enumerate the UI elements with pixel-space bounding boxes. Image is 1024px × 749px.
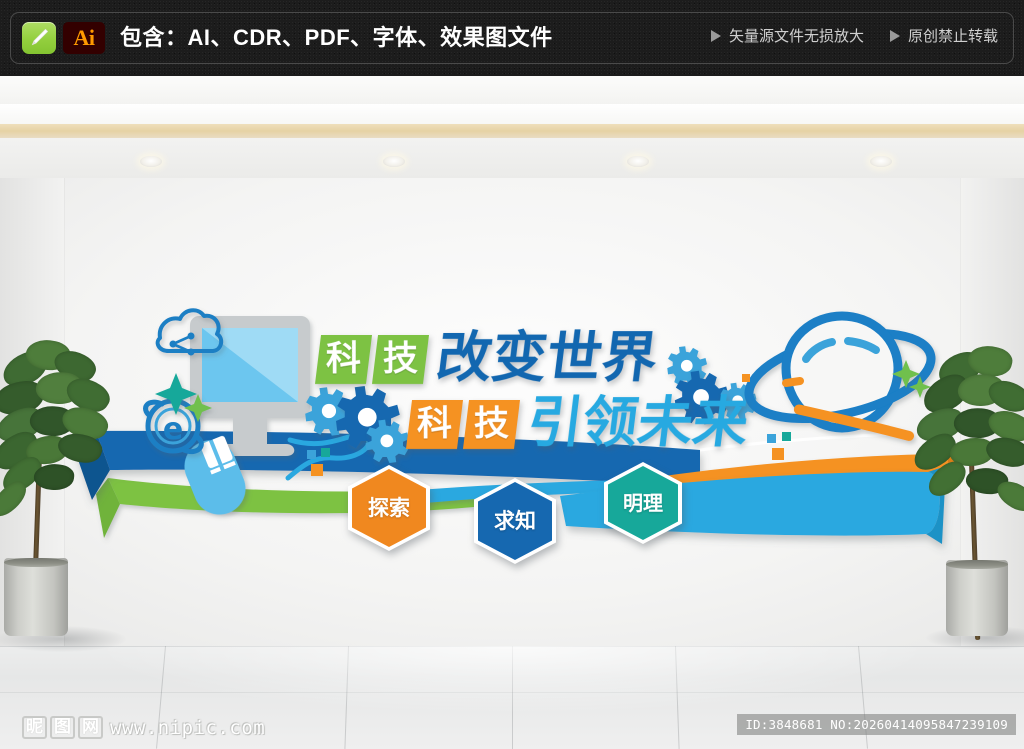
- banner-feature-label: 原创禁止转载: [908, 25, 998, 46]
- site-url: www.nipic.com: [110, 717, 265, 739]
- headline-line2-text: 引领未来: [525, 395, 752, 450]
- asset-id-badge: ID:3848681 NO:20260414095847239109: [737, 714, 1016, 735]
- banner-features: 矢量源文件无损放大 原创禁止转载: [711, 25, 998, 46]
- headline-tile-3: 技: [463, 400, 520, 449]
- ceiling-downlight: [627, 156, 649, 167]
- play-triangle-icon: [890, 30, 900, 42]
- banner-feature-0: 矢量源文件无损放大: [711, 25, 864, 46]
- site-name-char: 网: [78, 716, 103, 739]
- screenshot-root: Ai 包含：AI、CDR、PDF、字体、效果图文件 矢量源文件无损放大 原创禁止…: [0, 0, 1024, 749]
- site-watermark: 昵 图 网 www.nipic.com: [22, 716, 265, 739]
- badge-understand: 明理: [604, 462, 682, 544]
- fiddle-leaf-fig-left: [0, 326, 130, 666]
- ceiling-cove-light-strip: [0, 124, 1024, 138]
- pot-rim: [946, 560, 1008, 569]
- headline-tile-0: 科: [315, 335, 372, 384]
- adobe-illustrator-logo: Ai: [63, 22, 105, 54]
- ceiling-soffit: [0, 104, 1024, 124]
- pot-rim: [4, 558, 68, 567]
- ceiling-downlight: [870, 156, 892, 167]
- banner-feature-label: 矢量源文件无损放大: [729, 25, 864, 46]
- pixel-squares-icon: [767, 432, 791, 460]
- banner-formats-label: 包含：AI、CDR、PDF、字体、效果图文件: [120, 20, 553, 52]
- badge-label: 求知: [494, 511, 536, 532]
- svg-text:e: e: [163, 412, 183, 447]
- site-name-char: 昵: [22, 716, 47, 739]
- promo-banner: Ai 包含：AI、CDR、PDF、字体、效果图文件 矢量源文件无损放大 原创禁止…: [0, 0, 1024, 76]
- pixel-squares-icon: [742, 374, 750, 382]
- wall-graphic: e: [0, 178, 1024, 648]
- site-name-char: 图: [50, 716, 75, 739]
- ai-logo-text: Ai: [74, 25, 95, 51]
- fiddle-leaf-fig-right: [910, 334, 1024, 664]
- badge-seek-knowledge: 求知: [474, 478, 556, 564]
- badge-label: 探索: [368, 498, 410, 519]
- office-room-scene: e: [0, 76, 1024, 749]
- headline-tile-1: 技: [372, 335, 429, 384]
- ceiling-downlight: [383, 156, 405, 167]
- ceiling-upper: [0, 76, 1024, 104]
- concrete-cylinder-pot: [4, 558, 68, 636]
- badge-explore: 探索: [348, 465, 430, 551]
- ceiling-downlight: [140, 156, 162, 167]
- headline-line1-text: 改变世界: [434, 330, 661, 385]
- play-triangle-icon: [711, 30, 721, 42]
- site-name-cn: 昵 图 网: [22, 716, 103, 739]
- concrete-cylinder-pot: [946, 560, 1008, 636]
- badge-label: 明理: [623, 493, 663, 513]
- pencil-icon: [22, 22, 56, 54]
- banner-feature-1: 原创禁止转载: [890, 25, 998, 46]
- headline-tile-2: 科: [406, 400, 463, 449]
